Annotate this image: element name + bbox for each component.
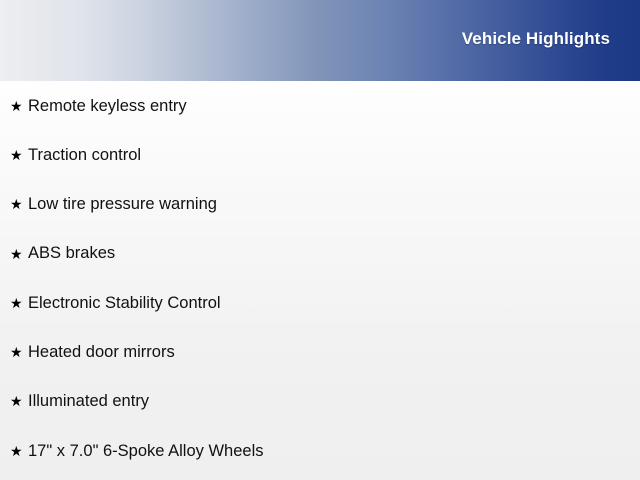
page-title: Vehicle Highlights: [462, 29, 610, 49]
list-item: ★ Remote keyless entry: [0, 81, 640, 130]
list-item: ★ Traction control: [0, 130, 640, 179]
list-item: ★ 17" x 7.0" 6-Spoke Alloy Wheels: [0, 426, 640, 475]
star-icon: ★: [10, 247, 28, 261]
highlight-label: 17" x 7.0" 6-Spoke Alloy Wheels: [28, 442, 264, 460]
star-icon: ★: [10, 148, 28, 162]
highlight-label: Electronic Stability Control: [28, 294, 221, 312]
header-band: Vehicle Highlights: [0, 0, 640, 81]
star-icon: ★: [10, 444, 28, 458]
star-icon: ★: [10, 345, 28, 359]
vehicle-highlights-page: Vehicle Highlights ★ Remote keyless entr…: [0, 0, 640, 480]
list-item: ★ Heated door mirrors: [0, 327, 640, 376]
highlight-label: Traction control: [28, 146, 141, 164]
highlight-label: Remote keyless entry: [28, 97, 187, 115]
star-icon: ★: [10, 394, 28, 408]
vehicle-highlights-list: ★ Remote keyless entry ★ Traction contro…: [0, 81, 640, 475]
star-icon: ★: [10, 99, 28, 113]
highlight-label: ABS brakes: [28, 244, 115, 262]
list-item: ★ Low tire pressure warning: [0, 180, 640, 229]
list-item: ★ ABS brakes: [0, 229, 640, 278]
list-item: ★ Electronic Stability Control: [0, 278, 640, 327]
star-icon: ★: [10, 296, 28, 310]
star-icon: ★: [10, 197, 28, 211]
highlight-label: Heated door mirrors: [28, 343, 175, 361]
highlight-label: Low tire pressure warning: [28, 195, 217, 213]
list-item: ★ Illuminated entry: [0, 377, 640, 426]
highlight-label: Illuminated entry: [28, 392, 149, 410]
